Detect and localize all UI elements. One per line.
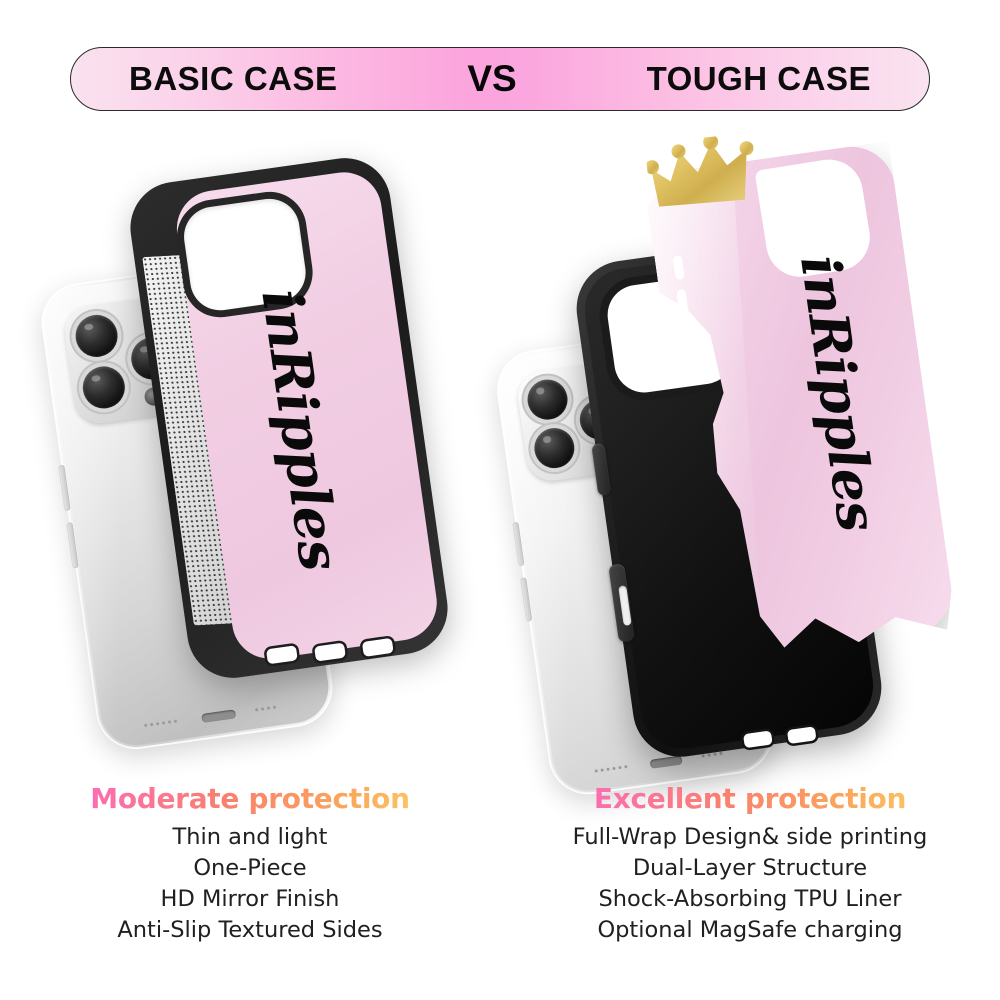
tough-feature-item: Dual-Layer Structure: [500, 853, 1000, 884]
tough-case-group: inRipples: [500, 120, 1000, 780]
liner-bottom-cutout-2: [787, 726, 817, 744]
basic-feature-column: Moderate protection Thin and light One-P…: [0, 782, 500, 946]
banner-pill: BASIC CASE VS TOUGH CASE: [70, 47, 930, 111]
crown-icon: [645, 133, 760, 216]
product-stage: inRipples: [0, 120, 1000, 780]
camera-lens-ultrawide-icon: [532, 426, 577, 471]
basic-feature-item: Thin and light: [0, 822, 500, 853]
banner-vs-label: VS: [467, 58, 516, 100]
tough-protection-heading: Excellent protection: [500, 782, 1000, 815]
tough-feature-item: Full-Wrap Design& side printing: [500, 822, 1000, 853]
basic-feature-item: One-Piece: [0, 853, 500, 884]
tough-feature-item: Optional MagSafe charging: [500, 915, 1000, 946]
basic-case-group: inRipples: [0, 120, 500, 780]
tough-feature-item: Shock-Absorbing TPU Liner: [500, 884, 1000, 915]
tough-feature-column: Excellent protection Full-Wrap Design& s…: [500, 782, 1000, 946]
banner-left-label: BASIC CASE: [129, 60, 338, 98]
camera-lens-wide-icon: [525, 377, 570, 422]
camera-lens-wide-icon: [73, 312, 120, 359]
feature-comparison: Moderate protection Thin and light One-P…: [0, 782, 1000, 992]
camera-lens-ultrawide-icon: [80, 364, 127, 411]
basic-protection-heading: Moderate protection: [0, 782, 500, 815]
basic-feature-item: Anti-Slip Textured Sides: [0, 915, 500, 946]
brand-text-basic: inRipples: [249, 285, 353, 574]
basic-feature-item: HD Mirror Finish: [0, 884, 500, 915]
banner-right-label: TOUGH CASE: [647, 60, 871, 98]
comparison-banner: BASIC CASE VS TOUGH CASE: [70, 47, 930, 111]
